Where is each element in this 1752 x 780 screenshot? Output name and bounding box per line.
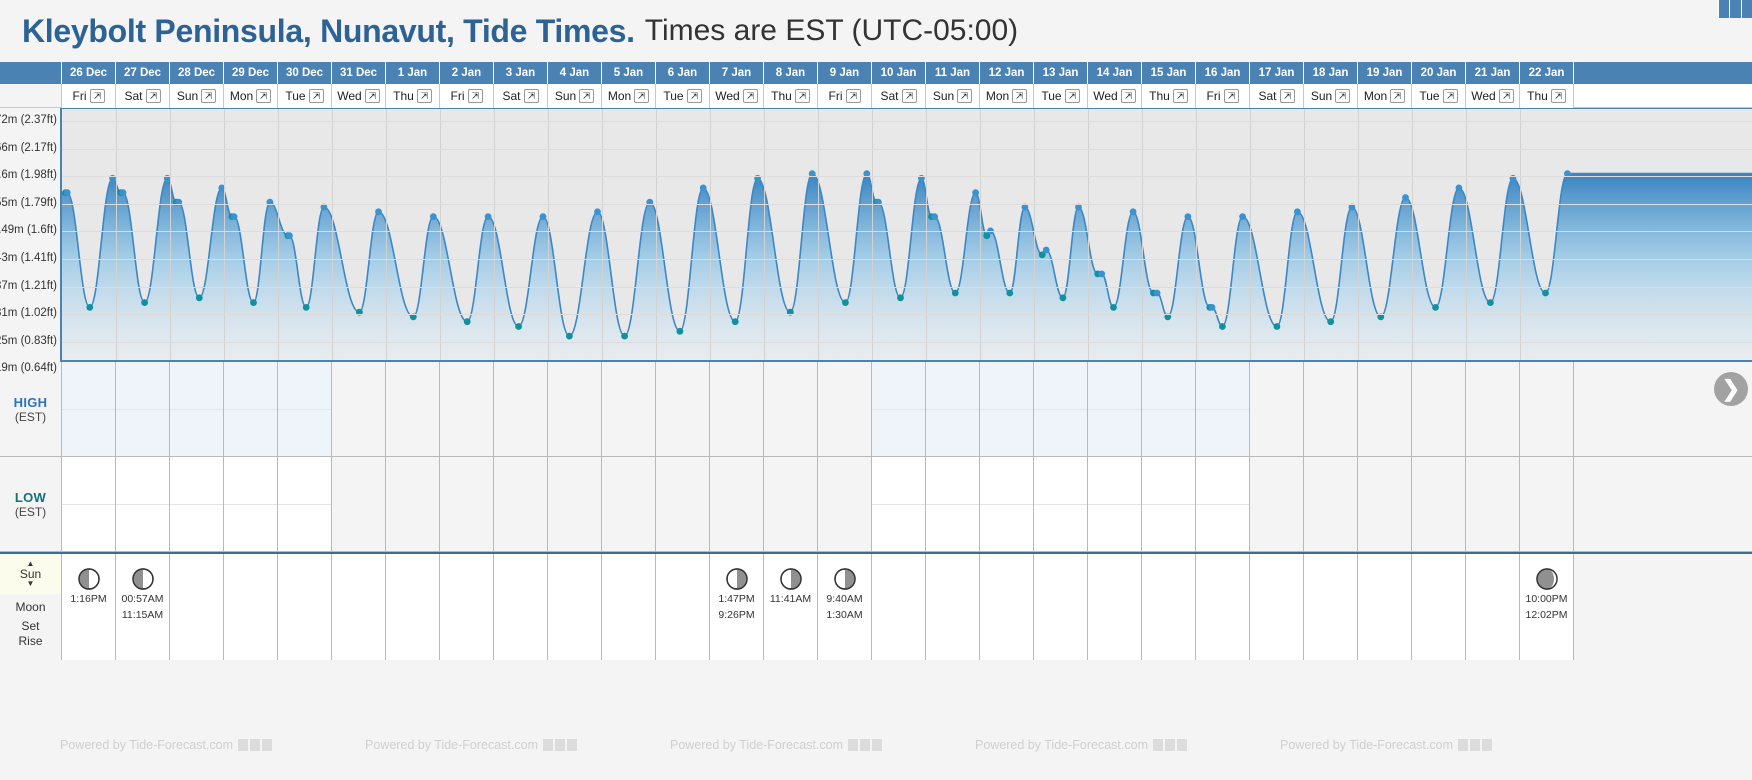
- low-tide-column: [1520, 457, 1574, 551]
- low-tide-column: [332, 457, 386, 551]
- day-of-week-cell[interactable]: Wed⇱: [710, 84, 764, 108]
- date-header-cell[interactable]: 11 Jan: [926, 62, 980, 84]
- high-tide-column: [1142, 362, 1196, 456]
- day-of-week-cell[interactable]: Thu⇱: [1520, 84, 1574, 108]
- high-tide-column: [332, 362, 386, 456]
- expand-icon[interactable]: ⇱: [1499, 89, 1514, 103]
- moon-phase-cell: [926, 554, 980, 660]
- date-header-cell[interactable]: 12 Jan: [980, 62, 1034, 84]
- date-header-cell[interactable]: 7 Jan: [710, 62, 764, 84]
- high-tide-column: [386, 362, 440, 456]
- expand-icon[interactable]: ⇱: [1173, 89, 1188, 103]
- day-of-week-cell[interactable]: Sat⇱: [1250, 84, 1304, 108]
- moon-phase-cell: [1358, 554, 1412, 660]
- moon-phase-cell: [548, 554, 602, 660]
- header-scroll-strip[interactable]: [1718, 0, 1752, 18]
- chart-day-gridline: [926, 109, 927, 360]
- expand-icon[interactable]: ⇱: [846, 89, 861, 103]
- high-tide-entry: [1034, 409, 1087, 456]
- day-of-week-label: Wed: [1471, 89, 1495, 103]
- date-header-cell[interactable]: 18 Jan: [1304, 62, 1358, 84]
- chart-day-gridline: [1250, 109, 1251, 360]
- moon-phase-cell: [980, 554, 1034, 660]
- moon-phase-cell: 11:41AM: [764, 554, 818, 660]
- expand-icon[interactable]: ⇱: [1280, 89, 1295, 103]
- chart-day-gridline: [656, 109, 657, 360]
- low-tide-column: [62, 457, 116, 551]
- low-tide-column: [1034, 457, 1088, 551]
- expand-icon[interactable]: ⇱: [1443, 89, 1458, 103]
- expand-icon[interactable]: ⇱: [957, 89, 972, 103]
- next-page-arrow-icon[interactable]: ❯: [1714, 372, 1748, 406]
- chart-day-gridline: [494, 109, 495, 360]
- chart-day-gridline: [1196, 109, 1197, 360]
- high-tide-column: [116, 362, 170, 456]
- moon-phase-icon: [726, 568, 748, 590]
- moon-phase-cell: 1:16PM: [62, 554, 116, 660]
- date-header-cell[interactable]: 14 Jan: [1088, 62, 1142, 84]
- day-of-week-cell[interactable]: Sun⇱: [926, 84, 980, 108]
- expand-icon[interactable]: ⇱: [1065, 89, 1080, 103]
- day-of-week-cell[interactable]: Tue⇱: [1412, 84, 1466, 108]
- day-of-week-cell[interactable]: Sun⇱: [548, 84, 602, 108]
- day-of-week-cell[interactable]: Sat⇱: [116, 84, 170, 108]
- low-tide-entry: [926, 457, 979, 504]
- day-of-week-label: Sat: [502, 89, 520, 103]
- date-header-cell[interactable]: 22 Jan: [1520, 62, 1574, 84]
- day-of-week-label: Mon: [230, 89, 253, 103]
- day-of-week-label: Sun: [1311, 89, 1332, 103]
- tide-chart: 0.72m (2.37ft)0.66m (2.17ft)0.6m (1.98ft…: [0, 108, 1752, 362]
- moon-phase-cell: [1466, 554, 1520, 660]
- y-axis-tick-label: 0.66m (2.17ft): [0, 142, 57, 154]
- chart-horizontal-gridline: [62, 259, 1752, 260]
- date-header-cell[interactable]: 26 Dec: [62, 62, 116, 84]
- day-of-week-label: Tue: [285, 89, 305, 103]
- moon-phase-cell: [1088, 554, 1142, 660]
- y-axis-tick-label: 0.25m (0.83ft): [0, 335, 57, 347]
- date-header-cell[interactable]: 17 Jan: [1250, 62, 1304, 84]
- high-tide-column: [1412, 362, 1466, 456]
- low-tide-column: [116, 457, 170, 551]
- tide-chart-page: Kleybolt Peninsula, Nunavut, Tide Times.…: [0, 0, 1752, 780]
- low-tide-column: [548, 457, 602, 551]
- day-of-week-cell[interactable]: Thu⇱: [1142, 84, 1196, 108]
- high-tide-column: [926, 362, 980, 456]
- watermark-bars-icon: [1458, 739, 1492, 751]
- low-tide-entry: [62, 504, 115, 551]
- watermark: Powered by Tide-Forecast.com: [975, 738, 1187, 752]
- moon-phase-cell: 00:57AM11:15AM: [116, 554, 170, 660]
- low-tide-entry: [1196, 457, 1249, 504]
- set-label: Set: [21, 619, 39, 633]
- date-header-cell[interactable]: 1 Jan: [386, 62, 440, 84]
- expand-icon[interactable]: ⇱: [146, 89, 161, 103]
- low-tide-label: LOW (EST): [0, 457, 62, 551]
- expand-icon[interactable]: ⇱: [1335, 89, 1350, 103]
- low-tide-entry: [278, 504, 331, 551]
- low-tide-entry: [1088, 457, 1141, 504]
- day-of-week-cell[interactable]: Tue⇱: [278, 84, 332, 108]
- high-tide-column: [818, 362, 872, 456]
- chart-day-gridline: [1358, 109, 1359, 360]
- expand-icon[interactable]: ⇱: [1390, 89, 1405, 103]
- day-of-week-cell[interactable]: Tue⇱: [656, 84, 710, 108]
- high-tide-entry: [1142, 409, 1195, 456]
- watermark: Powered by Tide-Forecast.com: [670, 738, 882, 752]
- high-tide-entry: [170, 362, 223, 409]
- chart-day-gridline: [1088, 109, 1089, 360]
- day-of-week-label: Thu: [771, 89, 792, 103]
- y-axis-tick-label: 0.49m (1.6ft): [0, 224, 57, 236]
- high-tide-column: [1520, 362, 1574, 456]
- day-of-week-label: Thu: [1527, 89, 1548, 103]
- low-tide-entry: [116, 457, 169, 504]
- day-of-week-label: Tue: [1419, 89, 1439, 103]
- expand-icon[interactable]: ⇱: [256, 89, 271, 103]
- low-tide-entry: [1142, 504, 1195, 551]
- high-tide-column: [980, 362, 1034, 456]
- date-header-cell[interactable]: 8 Jan: [764, 62, 818, 84]
- date-header-row: 26 Dec27 Dec28 Dec29 Dec30 Dec31 Dec1 Ja…: [0, 62, 1752, 84]
- chart-horizontal-gridline: [62, 176, 1752, 177]
- high-tide-column: [710, 362, 764, 456]
- day-of-week-label: Sat: [124, 89, 142, 103]
- high-tide-column: [224, 362, 278, 456]
- moon-phase-icon: [1536, 568, 1558, 590]
- date-header-cell[interactable]: 9 Jan: [818, 62, 872, 84]
- moon-time: 00:57AM: [121, 593, 163, 606]
- moon-phase-cell: 1:47PM9:26PM: [710, 554, 764, 660]
- chart-horizontal-gridline: [62, 121, 1752, 122]
- sun-down-arrow-icon: ▼: [27, 580, 35, 588]
- sun-toggle[interactable]: ▲ Sun ▼: [0, 554, 61, 594]
- moon-phase-cell: [1196, 554, 1250, 660]
- moon-phase-cell: [224, 554, 278, 660]
- high-tide-column: [494, 362, 548, 456]
- moon-phase-cell: [1142, 554, 1196, 660]
- day-of-week-cell[interactable]: Fri⇱: [440, 84, 494, 108]
- moon-phase-icon: [132, 568, 154, 590]
- low-tide-column: [1304, 457, 1358, 551]
- expand-icon[interactable]: ⇱: [417, 89, 432, 103]
- low-tide-entry: [278, 457, 331, 504]
- high-tide-entry: [1196, 409, 1249, 456]
- high-tide-entry: [872, 409, 925, 456]
- y-axis: 0.72m (2.37ft)0.66m (2.17ft)0.6m (1.98ft…: [0, 108, 62, 362]
- moon-phase-cell: [1034, 554, 1088, 660]
- low-tide-entry: [170, 504, 223, 551]
- day-of-week-cell[interactable]: Sun⇱: [1304, 84, 1358, 108]
- tide-plot-area[interactable]: [62, 108, 1752, 362]
- sun-moon-label: ▲ Sun ▼ Moon Set Rise: [0, 554, 62, 660]
- moon-time: 1:16PM: [70, 593, 106, 606]
- day-of-week-cell[interactable]: Mon⇱: [224, 84, 278, 108]
- chart-day-gridline: [818, 109, 819, 360]
- expand-icon[interactable]: ⇱: [902, 89, 917, 103]
- chart-day-gridline: [1412, 109, 1413, 360]
- low-tide-column: [440, 457, 494, 551]
- high-tide-column: [764, 362, 818, 456]
- high-tide-column: [440, 362, 494, 456]
- chart-day-gridline: [548, 109, 549, 360]
- watermark: Powered by Tide-Forecast.com: [60, 738, 272, 752]
- moon-phase-cell: [278, 554, 332, 660]
- chart-day-gridline: [224, 109, 225, 360]
- expand-icon[interactable]: ⇱: [309, 89, 324, 103]
- day-of-week-label: Thu: [393, 89, 414, 103]
- moon-time: 9:40AM: [826, 593, 862, 606]
- page-title: Kleybolt Peninsula, Nunavut, Tide Times.…: [0, 0, 1752, 62]
- expand-icon[interactable]: ⇱: [1551, 89, 1566, 103]
- day-of-week-label: Fri: [829, 89, 843, 103]
- day-of-week-label: Mon: [608, 89, 631, 103]
- date-header-cell[interactable]: 3 Jan: [494, 62, 548, 84]
- chart-day-gridline: [1520, 109, 1521, 360]
- high-tide-entry: [980, 362, 1033, 409]
- expand-icon[interactable]: ⇱: [634, 89, 649, 103]
- low-tide-column: [170, 457, 224, 551]
- expand-icon[interactable]: ⇱: [743, 89, 758, 103]
- day-of-week-label: Fri: [73, 89, 87, 103]
- high-tide-column: [62, 362, 116, 456]
- high-tide-column: [1304, 362, 1358, 456]
- y-axis-tick-label: 0.31m (1.02ft): [0, 307, 57, 319]
- high-tide-entry: [980, 409, 1033, 456]
- day-of-week-label: Tue: [663, 89, 683, 103]
- moon-time: 10:00PM: [1525, 593, 1567, 606]
- day-of-week-cell[interactable]: Fri⇱: [1196, 84, 1250, 108]
- low-tide-entry: [116, 504, 169, 551]
- low-tide-column: [1088, 457, 1142, 551]
- high-tide-entry: [224, 409, 277, 456]
- watermark-bars-icon: [543, 739, 577, 751]
- day-of-week-cell[interactable]: Wed⇱: [332, 84, 386, 108]
- chart-day-gridline: [980, 109, 981, 360]
- day-of-week-label: Thu: [1149, 89, 1170, 103]
- high-tide-column: [1250, 362, 1304, 456]
- watermark-bars-icon: [1153, 739, 1187, 751]
- day-of-week-cell[interactable]: Thu⇱: [764, 84, 818, 108]
- low-tide-entry: [1142, 457, 1195, 504]
- day-of-week-label: Sun: [555, 89, 576, 103]
- day-of-week-cell[interactable]: Mon⇱: [602, 84, 656, 108]
- moon-phase-icon: [834, 568, 856, 590]
- watermark-text: Powered by Tide-Forecast.com: [975, 738, 1148, 752]
- watermark-text: Powered by Tide-Forecast.com: [365, 738, 538, 752]
- day-of-week-label: Sun: [933, 89, 954, 103]
- watermark: Powered by Tide-Forecast.com: [1280, 738, 1492, 752]
- high-tide-entry: [278, 362, 331, 409]
- chart-day-gridline: [170, 109, 171, 360]
- date-header-cell[interactable]: 30 Dec: [278, 62, 332, 84]
- rise-label: Rise: [18, 634, 42, 648]
- expand-icon[interactable]: ⇱: [1224, 89, 1239, 103]
- high-tide-entry: [116, 409, 169, 456]
- high-tide-column: [1466, 362, 1520, 456]
- moon-phase-cell: [1304, 554, 1358, 660]
- day-of-week-label: Sun: [177, 89, 198, 103]
- expand-icon[interactable]: ⇱: [468, 89, 483, 103]
- day-of-week-label: Fri: [451, 89, 465, 103]
- day-of-week-cell[interactable]: Wed⇱: [1088, 84, 1142, 108]
- moon-phase-cell: 10:00PM12:02PM: [1520, 554, 1574, 660]
- date-header-cell[interactable]: 4 Jan: [548, 62, 602, 84]
- chart-day-gridline: [1034, 109, 1035, 360]
- date-header-cell[interactable]: 5 Jan: [602, 62, 656, 84]
- chart-horizontal-gridline: [62, 314, 1752, 315]
- low-tide-entry: [1034, 457, 1087, 504]
- day-of-week-label: Mon: [1364, 89, 1387, 103]
- day-of-week-cell[interactable]: Sat⇱: [494, 84, 548, 108]
- date-header-cell[interactable]: 29 Dec: [224, 62, 278, 84]
- day-of-week-cell[interactable]: Tue⇱: [1034, 84, 1088, 108]
- high-tide-timezone: (EST): [15, 410, 46, 424]
- chart-horizontal-gridline: [62, 342, 1752, 343]
- page-title-location: Kleybolt Peninsula, Nunavut, Tide Times.: [22, 13, 635, 50]
- watermark-bars-icon: [848, 739, 882, 751]
- day-of-week-cell[interactable]: Sun⇱: [170, 84, 224, 108]
- low-tide-column: [926, 457, 980, 551]
- low-tide-column: [764, 457, 818, 551]
- low-tide-column: [710, 457, 764, 551]
- day-of-week-cell[interactable]: Mon⇱: [980, 84, 1034, 108]
- expand-icon[interactable]: ⇱: [90, 89, 105, 103]
- high-tide-entry: [1142, 362, 1195, 409]
- high-tide-label-text: HIGH: [14, 395, 48, 410]
- high-tide-column: [872, 362, 926, 456]
- high-tide-entry: [1088, 409, 1141, 456]
- chart-day-gridline: [1466, 109, 1467, 360]
- sun-moon-row: ▲ Sun ▼ Moon Set Rise 1:16PM00:57AM11:15…: [0, 552, 1752, 660]
- date-header-cell[interactable]: 20 Jan: [1412, 62, 1466, 84]
- date-header-cell[interactable]: 13 Jan: [1034, 62, 1088, 84]
- day-of-week-cell[interactable]: Wed⇱: [1466, 84, 1520, 108]
- high-tide-entry: [926, 362, 979, 409]
- low-tide-entry: [872, 457, 925, 504]
- watermark-text: Powered by Tide-Forecast.com: [1280, 738, 1453, 752]
- date-header-cell[interactable]: 21 Jan: [1466, 62, 1520, 84]
- low-tide-column: [224, 457, 278, 551]
- day-of-week-label: Sat: [1258, 89, 1276, 103]
- high-tide-column: [1034, 362, 1088, 456]
- low-tide-column: [1358, 457, 1412, 551]
- moon-phase-cell: [1250, 554, 1304, 660]
- low-tide-timezone: (EST): [15, 505, 46, 519]
- chart-day-gridline: [764, 109, 765, 360]
- day-of-week-label: Mon: [986, 89, 1009, 103]
- y-axis-tick-label: 0.6m (1.98ft): [0, 169, 57, 181]
- low-tide-column: [494, 457, 548, 551]
- low-tide-column: [656, 457, 710, 551]
- high-tide-entry: [1196, 362, 1249, 409]
- date-header-cell[interactable]: 6 Jan: [656, 62, 710, 84]
- day-of-week-cell[interactable]: Fri⇱: [62, 84, 116, 108]
- high-tide-column: [656, 362, 710, 456]
- low-tide-column: [1412, 457, 1466, 551]
- page-title-timezone: Times are EST (UTC-05:00): [645, 14, 1018, 48]
- expand-icon[interactable]: ⇱: [524, 89, 539, 103]
- day-of-week-label: Fri: [1207, 89, 1221, 103]
- high-tide-entry: [116, 362, 169, 409]
- moon-phase-icon: [78, 568, 100, 590]
- expand-icon[interactable]: ⇱: [579, 89, 594, 103]
- watermark-text: Powered by Tide-Forecast.com: [60, 738, 233, 752]
- chart-day-gridline: [440, 109, 441, 360]
- low-tide-column: [1250, 457, 1304, 551]
- expand-icon[interactable]: ⇱: [795, 89, 810, 103]
- day-of-week-cell[interactable]: Sat⇱: [872, 84, 926, 108]
- expand-icon[interactable]: ⇱: [687, 89, 702, 103]
- date-header-cell[interactable]: 16 Jan: [1196, 62, 1250, 84]
- high-tide-entry: [170, 409, 223, 456]
- expand-icon[interactable]: ⇱: [201, 89, 216, 103]
- high-tide-entry: [1088, 362, 1141, 409]
- low-tide-row: LOW (EST): [0, 457, 1752, 552]
- date-header-cell[interactable]: 27 Dec: [116, 62, 170, 84]
- date-header-cell[interactable]: 10 Jan: [872, 62, 926, 84]
- expand-icon[interactable]: ⇱: [365, 89, 380, 103]
- day-of-week-cell[interactable]: Mon⇱: [1358, 84, 1412, 108]
- high-tide-entry: [224, 362, 277, 409]
- day-of-week-cell[interactable]: Fri⇱: [818, 84, 872, 108]
- low-tide-entry: [1034, 504, 1087, 551]
- watermark-layer: Powered by Tide-Forecast.comPowered by T…: [0, 738, 1752, 758]
- dow-corner: [0, 84, 62, 107]
- moon-phase-cell: [440, 554, 494, 660]
- expand-icon[interactable]: ⇱: [1012, 89, 1027, 103]
- chart-horizontal-gridline: [62, 204, 1752, 205]
- moon-phase-cell: [386, 554, 440, 660]
- day-of-week-label: Wed: [715, 89, 739, 103]
- moon-phase-cell: 9:40AM1:30AM: [818, 554, 872, 660]
- high-tide-entry: [62, 409, 115, 456]
- chart-day-gridline: [602, 109, 603, 360]
- moon-phase-cell: [602, 554, 656, 660]
- chart-day-gridline: [278, 109, 279, 360]
- high-tide-column: [602, 362, 656, 456]
- chart-day-gridline: [710, 109, 711, 360]
- high-tide-entry: [872, 362, 925, 409]
- day-of-week-cell[interactable]: Thu⇱: [386, 84, 440, 108]
- y-axis-tick-label: 0.72m (2.37ft): [0, 114, 57, 126]
- date-header-cell[interactable]: 31 Dec: [332, 62, 386, 84]
- moon-time: 11:15AM: [122, 609, 163, 622]
- date-header-cell[interactable]: 28 Dec: [170, 62, 224, 84]
- chart-day-gridline: [116, 109, 117, 360]
- expand-icon[interactable]: ⇱: [1121, 89, 1136, 103]
- date-header-cell[interactable]: 19 Jan: [1358, 62, 1412, 84]
- low-tide-column: [1196, 457, 1250, 551]
- low-tide-column: [1466, 457, 1520, 551]
- low-tide-label-text: LOW: [15, 490, 46, 505]
- low-tide-column: [872, 457, 926, 551]
- high-tide-entry: [278, 409, 331, 456]
- low-tide-entry: [872, 504, 925, 551]
- tide-curve: [62, 109, 1752, 362]
- day-of-week-label: Wed: [337, 89, 361, 103]
- moon-time: 1:30AM: [826, 609, 862, 622]
- low-tide-entry: [980, 504, 1033, 551]
- moon-phase-icon: [780, 568, 802, 590]
- watermark: Powered by Tide-Forecast.com: [365, 738, 577, 752]
- date-header-cell[interactable]: 15 Jan: [1142, 62, 1196, 84]
- moon-time: 1:47PM: [718, 593, 754, 606]
- low-tide-column: [818, 457, 872, 551]
- chart-day-gridline: [386, 109, 387, 360]
- date-header-cell[interactable]: 2 Jan: [440, 62, 494, 84]
- chart-horizontal-gridline: [62, 287, 1752, 288]
